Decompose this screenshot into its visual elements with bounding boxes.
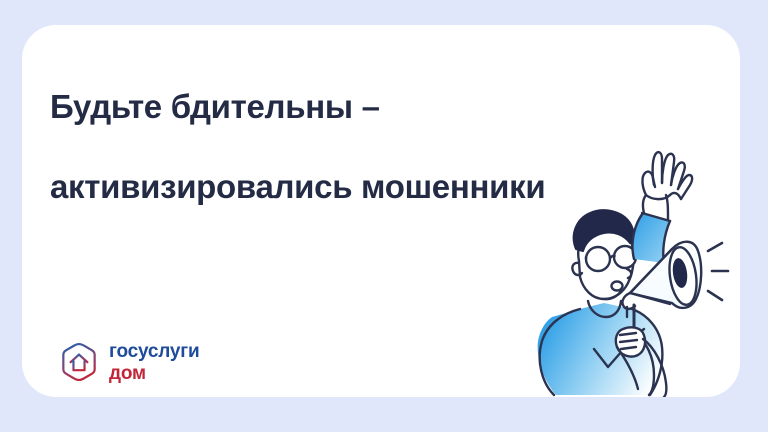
- head-icon: [572, 210, 636, 299]
- logo-word-dom: дом: [109, 364, 199, 383]
- content-card: Будьте бдительны – активизировались моше…: [22, 25, 740, 397]
- logo-word-gosuslugi: госуслуги: [109, 342, 199, 361]
- person-with-megaphone-illustration: [484, 143, 730, 397]
- headline-line-1: Будьте бдительны –: [50, 87, 670, 127]
- poster-canvas: Будьте бдительны – активизировались моше…: [0, 0, 768, 432]
- logo-wordmark: госуслуги дом: [109, 341, 199, 383]
- house-in-hexagon-icon: [58, 341, 100, 383]
- sound-lines-icon: [708, 243, 728, 300]
- gosuslugi-dom-logo[interactable]: госуслуги дом: [58, 341, 199, 383]
